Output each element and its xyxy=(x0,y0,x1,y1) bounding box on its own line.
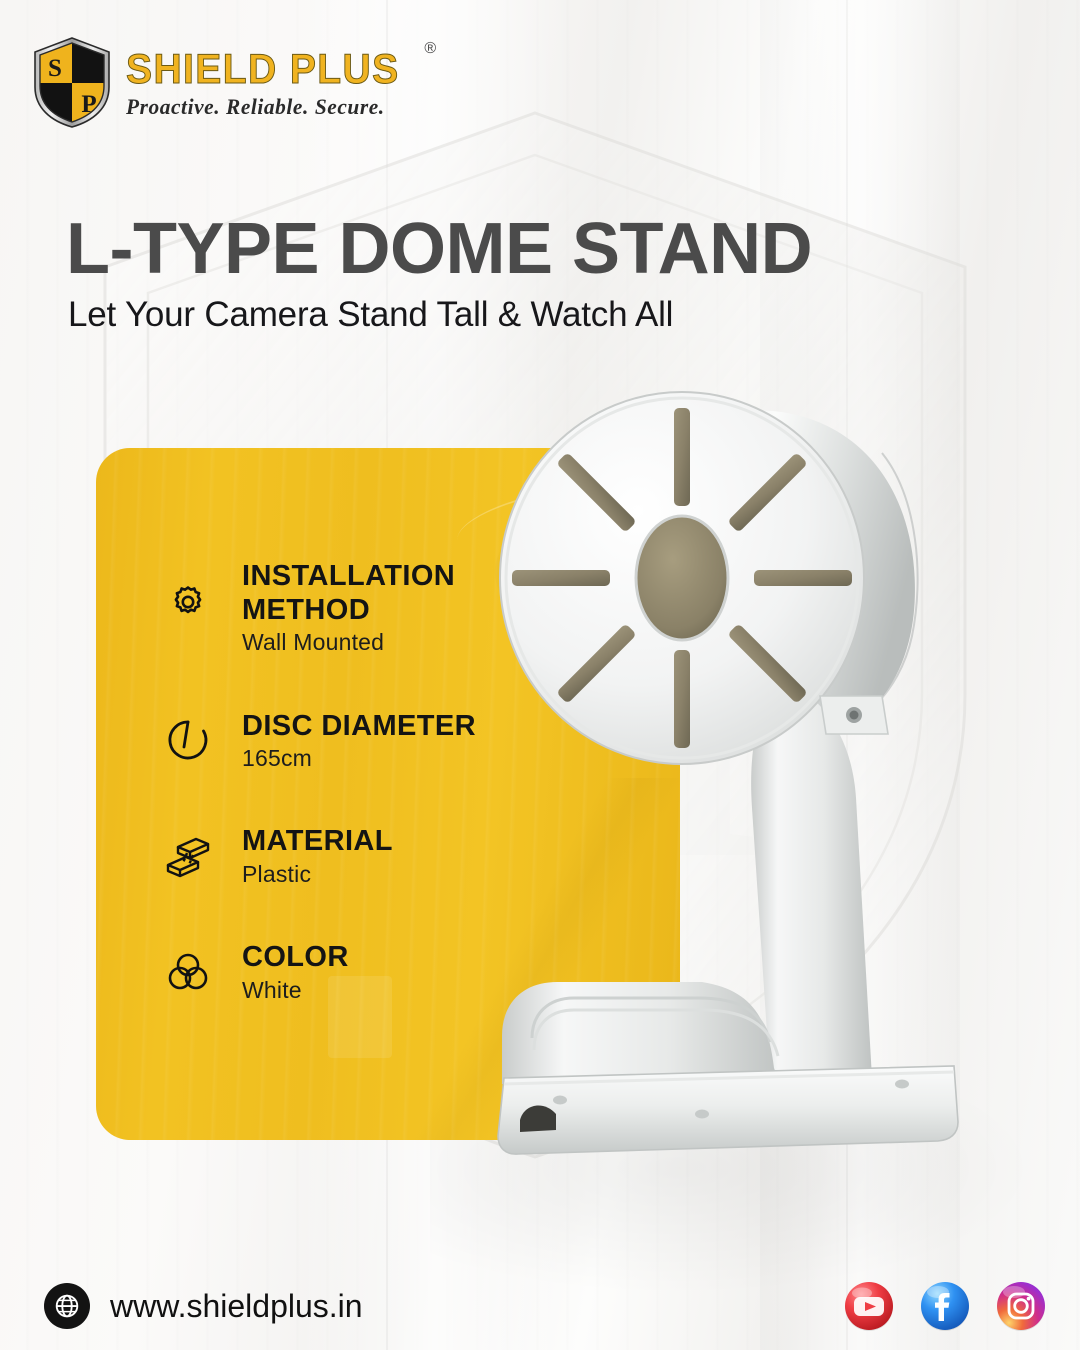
spec-label: MATERIAL xyxy=(242,825,393,859)
page-title: L-TYPE DOME STAND xyxy=(66,213,812,285)
diameter-icon xyxy=(164,710,220,769)
website-link[interactable]: www.shieldplus.in xyxy=(44,1283,363,1329)
facebook-icon[interactable] xyxy=(919,1280,971,1332)
brand-name: SHIELD PLUS xyxy=(126,48,400,90)
gear-icon xyxy=(164,560,220,631)
instagram-icon[interactable] xyxy=(995,1280,1047,1332)
shield-sp-icon: S P xyxy=(32,36,112,128)
spec-item-disc-diameter: DISC DIAMETER 165cm xyxy=(164,710,634,772)
globe-icon xyxy=(44,1283,90,1329)
spec-text: DISC DIAMETER 165cm xyxy=(242,710,476,772)
website-url[interactable]: www.shieldplus.in xyxy=(110,1290,363,1322)
spec-panel: INSTALLATION METHOD Wall Mounted DISC DI… xyxy=(96,448,680,1140)
spec-list: INSTALLATION METHOD Wall Mounted DISC DI… xyxy=(164,560,634,1003)
brand-logo: S P SHIELD PLUS ® Proactive. Reliable. S… xyxy=(32,36,420,128)
spec-text: INSTALLATION METHOD Wall Mounted xyxy=(242,560,455,656)
spec-text: MATERIAL Plastic xyxy=(242,825,393,887)
spec-label: DISC DIAMETER xyxy=(242,710,476,744)
spec-value: 165cm xyxy=(242,746,476,771)
color-icon xyxy=(164,941,220,1000)
spec-item-color: COLOR White xyxy=(164,941,634,1003)
spec-value: Wall Mounted xyxy=(242,630,455,655)
spec-item-installation-method: INSTALLATION METHOD Wall Mounted xyxy=(164,560,634,656)
spec-label: COLOR xyxy=(242,941,349,975)
shield-letter-p: P xyxy=(81,91,96,118)
spec-label: INSTALLATION METHOD xyxy=(242,560,455,627)
brand-tagline: Proactive. Reliable. Secure. xyxy=(126,94,411,120)
youtube-icon[interactable] xyxy=(843,1280,895,1332)
spec-value: Plastic xyxy=(242,862,393,887)
trademark-symbol: ® xyxy=(424,40,436,58)
material-icon xyxy=(164,825,220,884)
social-links xyxy=(843,1280,1047,1332)
spec-value: White xyxy=(242,978,349,1003)
spec-item-material: MATERIAL Plastic xyxy=(164,825,634,887)
spec-text: COLOR White xyxy=(242,941,349,1003)
page-subtitle: Let Your Camera Stand Tall & Watch All xyxy=(68,297,673,332)
shield-letter-s: S xyxy=(48,55,62,82)
